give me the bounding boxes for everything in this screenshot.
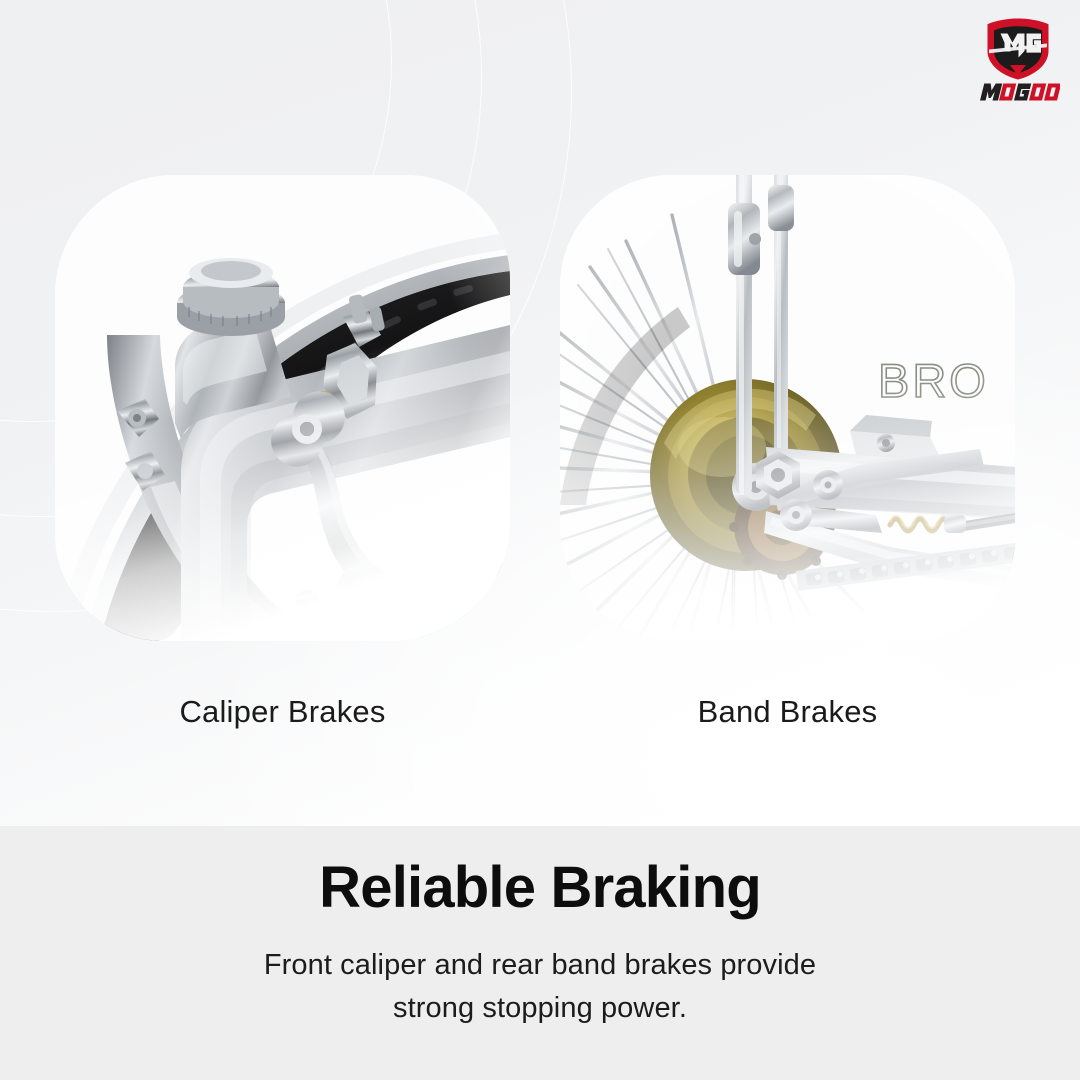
mogoo-wordmark — [976, 78, 1060, 106]
brand-logo — [976, 18, 1060, 112]
subline: Front caliper and rear band brakes provi… — [140, 944, 940, 1030]
footer-band: Reliable Braking Front caliper and rear … — [0, 826, 1080, 1080]
caliper-brake-photo — [55, 175, 510, 641]
infographic-canvas: BRO — [0, 0, 1080, 1080]
caption-band-brakes: Band Brakes — [560, 690, 1015, 734]
mogoo-shield-icon — [985, 18, 1051, 80]
headline: Reliable Braking — [0, 854, 1080, 921]
subline-line-1: Front caliper and rear band brakes provi… — [264, 949, 816, 981]
subline-line-2: strong stopping power. — [393, 992, 687, 1024]
band-brake-photo: BRO — [560, 175, 1015, 641]
caption-caliper-brakes: Caliper Brakes — [55, 690, 510, 734]
panel-caliper-brakes — [55, 175, 510, 641]
panel-band-brakes: BRO — [560, 175, 1015, 641]
